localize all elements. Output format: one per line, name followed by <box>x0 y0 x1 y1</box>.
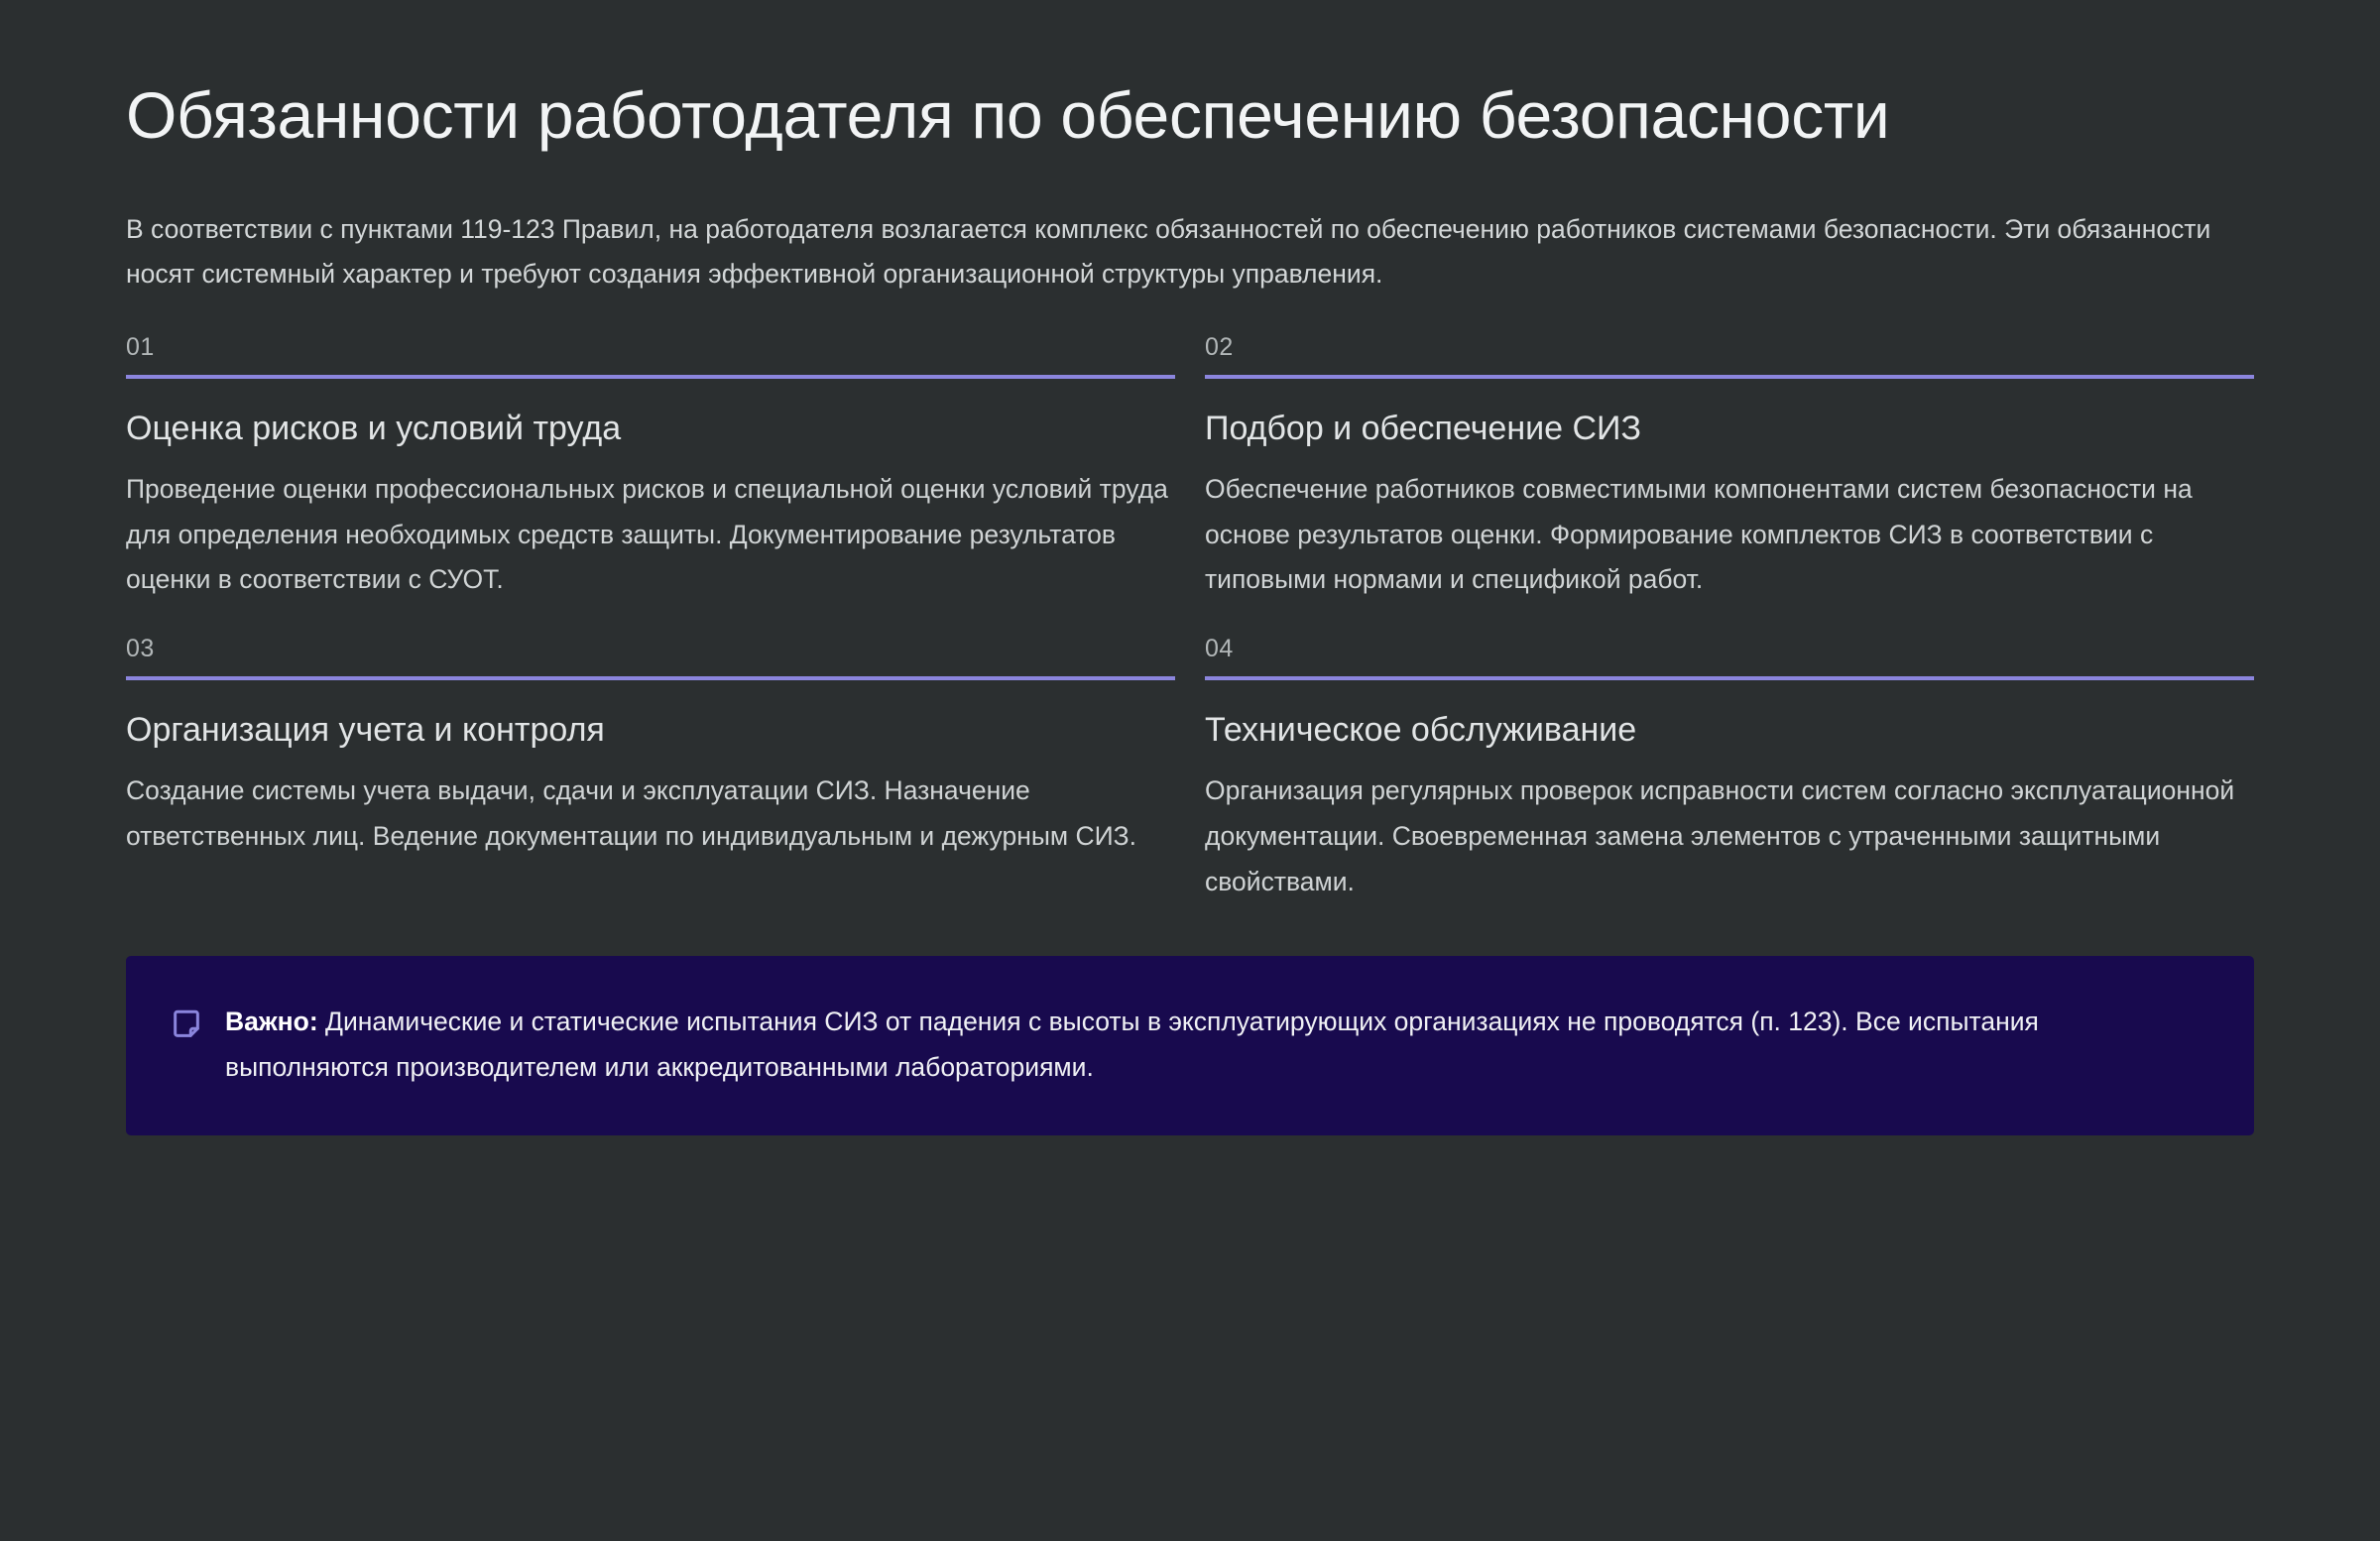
callout-body: Динамические и статические испытания СИЗ… <box>225 1007 2039 1082</box>
duty-number-04: 04 <box>1205 637 2254 676</box>
duty-number-02: 02 <box>1205 335 2254 375</box>
duty-card-03: 03 Организация учета и контроля Создание… <box>126 637 1175 938</box>
duty-body-01: Проведение оценки профессиональных риско… <box>126 449 1175 603</box>
sticky-note-icon <box>170 1008 203 1041</box>
duty-card-01: 01 Оценка рисков и условий труда Проведе… <box>126 335 1175 637</box>
duty-heading-01: Оценка рисков и условий труда <box>126 379 1175 450</box>
intro-paragraph: В соответствии с пунктами 119-123 Правил… <box>126 154 2254 297</box>
callout-text: Важно: Динамические и статические испыта… <box>225 1000 2206 1090</box>
duty-heading-04: Техническое обслуживание <box>1205 680 2254 752</box>
slide-root: Обязанности работодателя по обеспечению … <box>0 0 2380 1541</box>
duty-heading-03: Организация учета и контроля <box>126 680 1175 752</box>
duty-card-04: 04 Техническое обслуживание Организация … <box>1205 637 2254 938</box>
duty-number-03: 03 <box>126 637 1175 676</box>
duty-card-02: 02 Подбор и обеспечение СИЗ Обеспечение … <box>1205 335 2254 637</box>
important-callout: Важно: Динамические и статические испыта… <box>126 956 2254 1135</box>
duty-heading-02: Подбор и обеспечение СИЗ <box>1205 379 2254 450</box>
callout-label: Важно: <box>225 1007 318 1036</box>
duty-card-grid: 01 Оценка рисков и условий труда Проведе… <box>126 335 2254 938</box>
duty-body-02: Обеспечение работников совместимыми комп… <box>1205 449 2254 603</box>
duty-body-04: Организация регулярных проверок исправно… <box>1205 751 2254 904</box>
page-title: Обязанности работодателя по обеспечению … <box>126 0 1891 154</box>
duty-body-03: Создание системы учета выдачи, сдачи и э… <box>126 751 1175 859</box>
duty-number-01: 01 <box>126 335 1175 375</box>
